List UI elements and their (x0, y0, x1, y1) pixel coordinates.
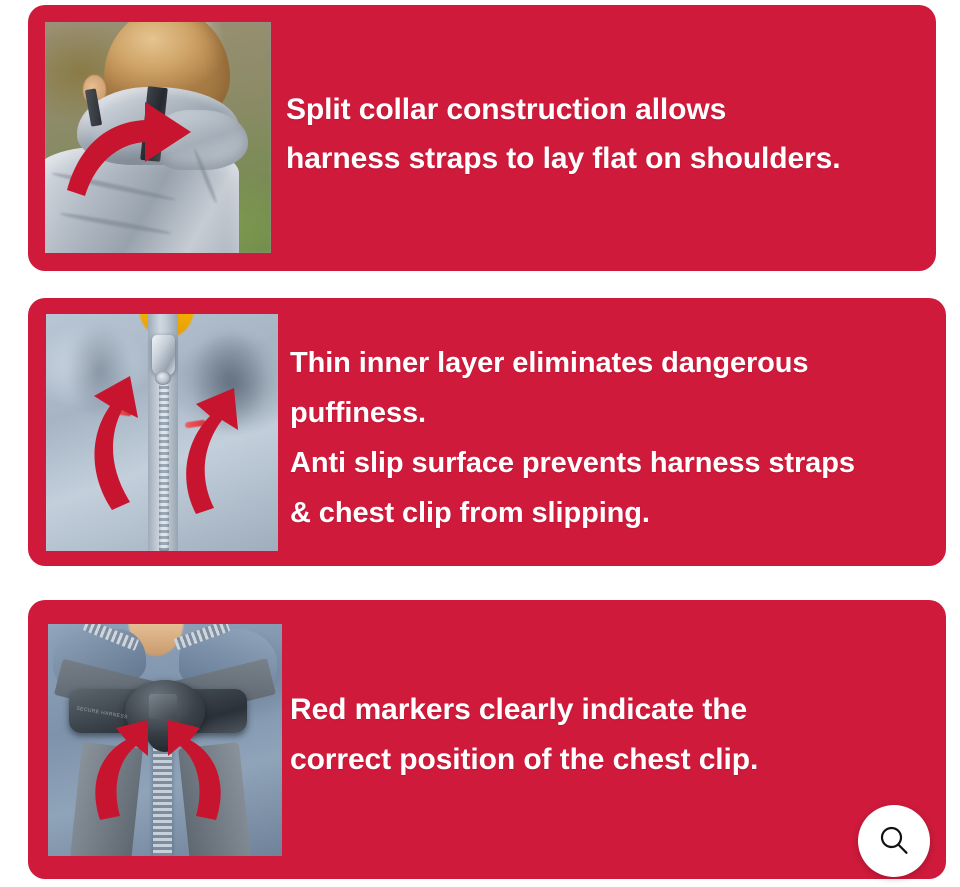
feature-photo-thin-inner-layer (46, 314, 278, 551)
chest-clip-button (149, 694, 177, 720)
feature-cards-page: Split collar construction allows harness… (0, 0, 960, 887)
feature-text-split-collar: Split collar construction allows harness… (286, 85, 926, 183)
feature-text-line: Anti slip surface prevents harness strap… (290, 438, 938, 488)
harness-strap-lower-right (178, 742, 251, 856)
photo-split-collar (45, 22, 271, 253)
search-button[interactable] (858, 805, 930, 877)
feature-text-line: correct position of the chest clip. (290, 735, 890, 785)
jacket-fold-left (65, 323, 135, 418)
feature-text-line: Red markers clearly indicate the (290, 685, 890, 735)
photo-zipper-closeup (46, 314, 278, 551)
zipper-slider (152, 335, 175, 375)
feature-text-line: harness straps to lay flat on shoulders. (286, 134, 926, 183)
jacket-fold-right (190, 328, 269, 432)
feature-photo-red-markers: SECURE HARNESS (48, 624, 282, 856)
feature-text-line: Split collar construction allows (286, 85, 926, 134)
feature-text-red-markers: Red markers clearly indicate the correct… (290, 685, 890, 785)
harness-strap-lower-left (70, 742, 143, 856)
feature-text-thin-inner-layer: Thin inner layer eliminates dangerous pu… (290, 338, 938, 538)
photo-chest-clip: SECURE HARNESS (48, 624, 282, 856)
feature-text-line: puffiness. (290, 388, 938, 438)
feature-card-split-collar: Split collar construction allows harness… (28, 5, 936, 271)
feature-text-line: & chest clip from slipping. (290, 488, 938, 538)
feature-text-line: Thin inner layer eliminates dangerous (290, 338, 938, 388)
feature-card-red-markers: SECURE HARNESS Red markers clearly indic… (28, 600, 946, 879)
feature-card-thin-inner-layer: Thin inner layer eliminates dangerous pu… (28, 298, 946, 566)
feature-photo-split-collar (45, 22, 271, 253)
search-icon (877, 824, 911, 858)
